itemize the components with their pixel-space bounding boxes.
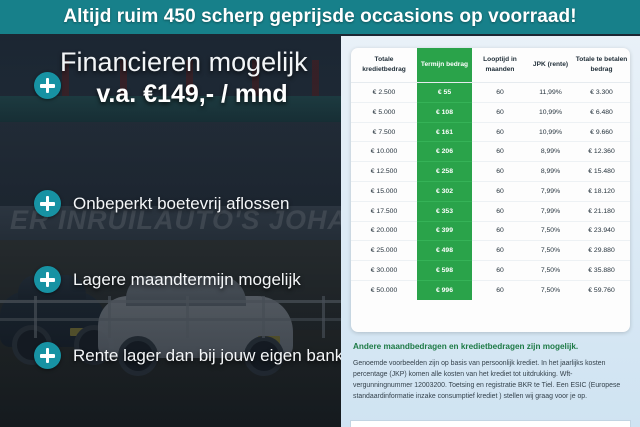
cell-months: 60 — [472, 102, 528, 122]
promo-panel: Financieren mogelijk v.a. €149,- / mnd O… — [0, 34, 350, 427]
cell-monthly: € 498 — [417, 241, 472, 261]
cell-jpk: 11,99% — [528, 83, 573, 103]
cell-monthly: € 302 — [417, 182, 472, 202]
cell-months: 60 — [472, 201, 528, 221]
cell-months: 60 — [472, 221, 528, 241]
cell-monthly: € 161 — [417, 122, 472, 142]
disclaimer-body: Genoemde voorbeelden zijn op basis van p… — [353, 358, 628, 403]
promo-bullet-2-label: Lagere maandtermijn mogelijk — [73, 270, 301, 290]
cell-total: € 12.360 — [573, 142, 630, 162]
column-header-jpk: JPK (rente) — [528, 48, 573, 83]
cell-jpk: 8,99% — [528, 142, 573, 162]
headline-line-2: v.a. €149,- / mnd — [60, 80, 350, 109]
cell-credit: € 5.000 — [351, 102, 417, 122]
cell-monthly: € 258 — [417, 162, 472, 182]
table-row: € 7.500€ 1616010,99%€ 9.660 — [351, 122, 630, 142]
cell-total: € 3.300 — [573, 83, 630, 103]
column-header-credit: Totale kredietbedrag — [351, 48, 417, 83]
cell-months: 60 — [472, 122, 528, 142]
table-row: € 2.500€ 556011,99%€ 3.300 — [351, 83, 630, 103]
promo-bullet-1: Onbeperkt boetevrij aflossen — [34, 190, 289, 217]
cell-jpk: 7,50% — [528, 261, 573, 281]
promo-bullet-1-label: Onbeperkt boetevrij aflossen — [73, 194, 289, 214]
cell-credit: € 10.000 — [351, 142, 417, 162]
cell-total: € 18.120 — [573, 182, 630, 202]
table-row: € 50.000€ 996607,50%€ 59.760 — [351, 280, 630, 299]
top-banner-text: Altijd ruim 450 scherp geprijsde occasio… — [63, 6, 576, 28]
rates-table-card: Totale kredietbedrag Termijn bedrag Loop… — [351, 48, 630, 332]
cell-monthly: € 353 — [417, 201, 472, 221]
cell-months: 60 — [472, 280, 528, 299]
disclaimer-heading: Andere maandbedragen en kredietbedragen … — [353, 342, 628, 352]
cell-monthly: € 108 — [417, 102, 472, 122]
table-row: € 5.000€ 1086010,99%€ 6.480 — [351, 102, 630, 122]
cell-credit: € 7.500 — [351, 122, 417, 142]
column-header-total: Totale te betalen bedrag — [573, 48, 630, 83]
cell-jpk: 8,99% — [528, 162, 573, 182]
cell-months: 60 — [472, 182, 528, 202]
cell-credit: € 50.000 — [351, 280, 417, 299]
cell-total: € 29.880 — [573, 241, 630, 261]
cell-monthly: € 996 — [417, 280, 472, 299]
cell-jpk: 7,50% — [528, 280, 573, 299]
finance-info-panel: Totale kredietbedrag Termijn bedrag Loop… — [341, 36, 640, 427]
cell-credit: € 17.500 — [351, 201, 417, 221]
headline-line-1: Financieren mogelijk — [60, 48, 350, 77]
cell-jpk: 7,50% — [528, 221, 573, 241]
rates-table-body: € 2.500€ 556011,99%€ 3.300€ 5.000€ 10860… — [351, 83, 630, 300]
cell-monthly: € 55 — [417, 83, 472, 103]
cell-total: € 35.880 — [573, 261, 630, 281]
cell-total: € 15.480 — [573, 162, 630, 182]
cell-months: 60 — [472, 261, 528, 281]
table-row: € 20.000€ 399607,50%€ 23.940 — [351, 221, 630, 241]
cell-credit: € 30.000 — [351, 261, 417, 281]
table-row: € 25.000€ 498607,50%€ 29.880 — [351, 241, 630, 261]
cell-total: € 9.660 — [573, 122, 630, 142]
cell-jpk: 7,50% — [528, 241, 573, 261]
promo-bullet-2: Lagere maandtermijn mogelijk — [34, 266, 301, 293]
cell-credit: € 2.500 — [351, 83, 417, 103]
cell-monthly: € 598 — [417, 261, 472, 281]
cell-total: € 23.940 — [573, 221, 630, 241]
cell-months: 60 — [472, 142, 528, 162]
cell-months: 60 — [472, 83, 528, 103]
cell-monthly: € 206 — [417, 142, 472, 162]
cell-jpk: 7,99% — [528, 182, 573, 202]
promo-headline: Financieren mogelijk v.a. €149,- / mnd — [60, 48, 350, 109]
plus-icon — [34, 342, 61, 369]
column-header-months: Looptijd in maanden — [472, 48, 528, 83]
credit-warning-banner: Let op! Geld lenen kost geld — [351, 421, 630, 427]
cell-credit: € 15.000 — [351, 182, 417, 202]
disclaimer-block: Andere maandbedragen en kredietbedragen … — [353, 342, 628, 403]
column-header-monthly: Termijn bedrag — [417, 48, 472, 83]
table-row: € 12.500€ 258608,99%€ 15.480 — [351, 162, 630, 182]
table-header-row: Totale kredietbedrag Termijn bedrag Loop… — [351, 48, 630, 83]
promo-bullet-3-label: Rente lager dan bij jouw eigen bank — [73, 346, 343, 366]
cell-jpk: 10,99% — [528, 102, 573, 122]
rates-table: Totale kredietbedrag Termijn bedrag Loop… — [351, 48, 630, 300]
cell-total: € 6.480 — [573, 102, 630, 122]
plus-icon — [34, 266, 61, 293]
plus-icon — [34, 190, 61, 217]
cell-credit: € 25.000 — [351, 241, 417, 261]
cell-months: 60 — [472, 241, 528, 261]
table-row: € 10.000€ 206608,99%€ 12.360 — [351, 142, 630, 162]
top-banner: Altijd ruim 450 scherp geprijsde occasio… — [0, 0, 640, 34]
table-row: € 17.500€ 353607,99%€ 21.180 — [351, 201, 630, 221]
cell-monthly: € 399 — [417, 221, 472, 241]
cell-jpk: 7,99% — [528, 201, 573, 221]
cell-jpk: 10,99% — [528, 122, 573, 142]
plus-icon — [34, 72, 61, 99]
table-row: € 15.000€ 302607,99%€ 18.120 — [351, 182, 630, 202]
cell-months: 60 — [472, 162, 528, 182]
promo-bullet-3: Rente lager dan bij jouw eigen bank — [34, 342, 343, 369]
cell-credit: € 12.500 — [351, 162, 417, 182]
table-row: € 30.000€ 598607,50%€ 35.880 — [351, 261, 630, 281]
advertisement-banner: ER INRUILAUTO'S JOHAN MEURE ALTIJD 450 B… — [0, 0, 640, 427]
cell-total: € 21.180 — [573, 201, 630, 221]
cell-credit: € 20.000 — [351, 221, 417, 241]
cell-total: € 59.760 — [573, 280, 630, 299]
